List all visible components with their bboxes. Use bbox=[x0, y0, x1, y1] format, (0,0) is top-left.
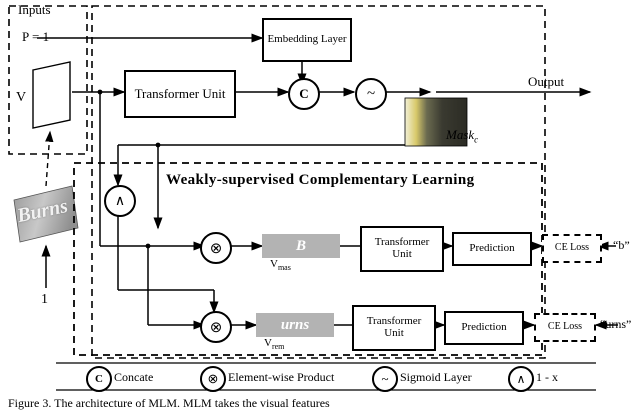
v-rem-sub: rem bbox=[272, 342, 284, 351]
legend-product-label: Element-wise Product bbox=[228, 370, 334, 385]
output-label: Output bbox=[528, 74, 564, 90]
transformer-unit-mid-box: Transformer Unit bbox=[360, 226, 444, 272]
v-label: V bbox=[16, 90, 26, 106]
transformer-unit-bottom-box: Transformer Unit bbox=[352, 305, 436, 351]
figure-caption: Figure 3. The architecture of MLM. MLM t… bbox=[8, 396, 330, 411]
concat-circle-main: C bbox=[288, 78, 320, 110]
legend-product-icon: ⊗ bbox=[200, 366, 226, 392]
embedding-layer-box: Embedding Layer bbox=[262, 18, 352, 62]
wscl-title: Weakly-supervised Complementary Learning bbox=[166, 172, 475, 189]
legend-oneminusx-icon: ∧ bbox=[508, 366, 534, 392]
prediction-top-box: Prediction bbox=[452, 232, 532, 266]
ce-loss-bottom-box: CE Loss bbox=[534, 313, 596, 342]
v-mas-text: V bbox=[270, 258, 278, 270]
v-mas-caption: Vmas bbox=[270, 258, 291, 272]
legend-concat-label: Concate bbox=[114, 370, 153, 385]
masked-token-box: B bbox=[262, 234, 340, 258]
v-mas-sub: mas bbox=[278, 263, 291, 272]
prediction-bottom-box: Prediction bbox=[444, 311, 524, 345]
p-label: P = 1 bbox=[22, 29, 49, 45]
ce-loss-top-box: CE Loss bbox=[542, 234, 602, 263]
mask-label-sub: c bbox=[474, 135, 478, 145]
target-top-label: “b” bbox=[613, 238, 630, 253]
transformer-unit-top-box: Transformer Unit bbox=[124, 70, 236, 118]
legend-oneminusx-label: 1 - x bbox=[536, 370, 558, 385]
inputs-group-title: Inputs bbox=[18, 2, 51, 18]
v-rem-caption: Vrem bbox=[264, 337, 284, 351]
digit-label: 1 bbox=[41, 292, 48, 308]
elementwise-product-bottom-circle: ⊗ bbox=[200, 311, 232, 343]
mask-label-text: Mask bbox=[446, 127, 474, 142]
one-minus-x-circle: ∧ bbox=[104, 185, 136, 217]
legend-sigmoid-icon: ~ bbox=[372, 366, 398, 392]
diagram-connectors bbox=[0, 0, 640, 414]
sigmoid-circle-main: ~ bbox=[355, 78, 387, 110]
elementwise-product-top-circle: ⊗ bbox=[200, 232, 232, 264]
target-bottom-label: “urns” bbox=[600, 317, 631, 332]
v-rem-text: V bbox=[264, 337, 272, 349]
mask-label: Maskc bbox=[446, 127, 478, 145]
figure-architecture-mlm: Inputs P = 1 V Burns 1 Embedding Layer T… bbox=[0, 0, 640, 414]
remaining-token-box: urns bbox=[256, 313, 334, 337]
legend-concat-icon: C bbox=[86, 366, 112, 392]
legend-sigmoid-label: Sigmoid Layer bbox=[400, 370, 472, 385]
